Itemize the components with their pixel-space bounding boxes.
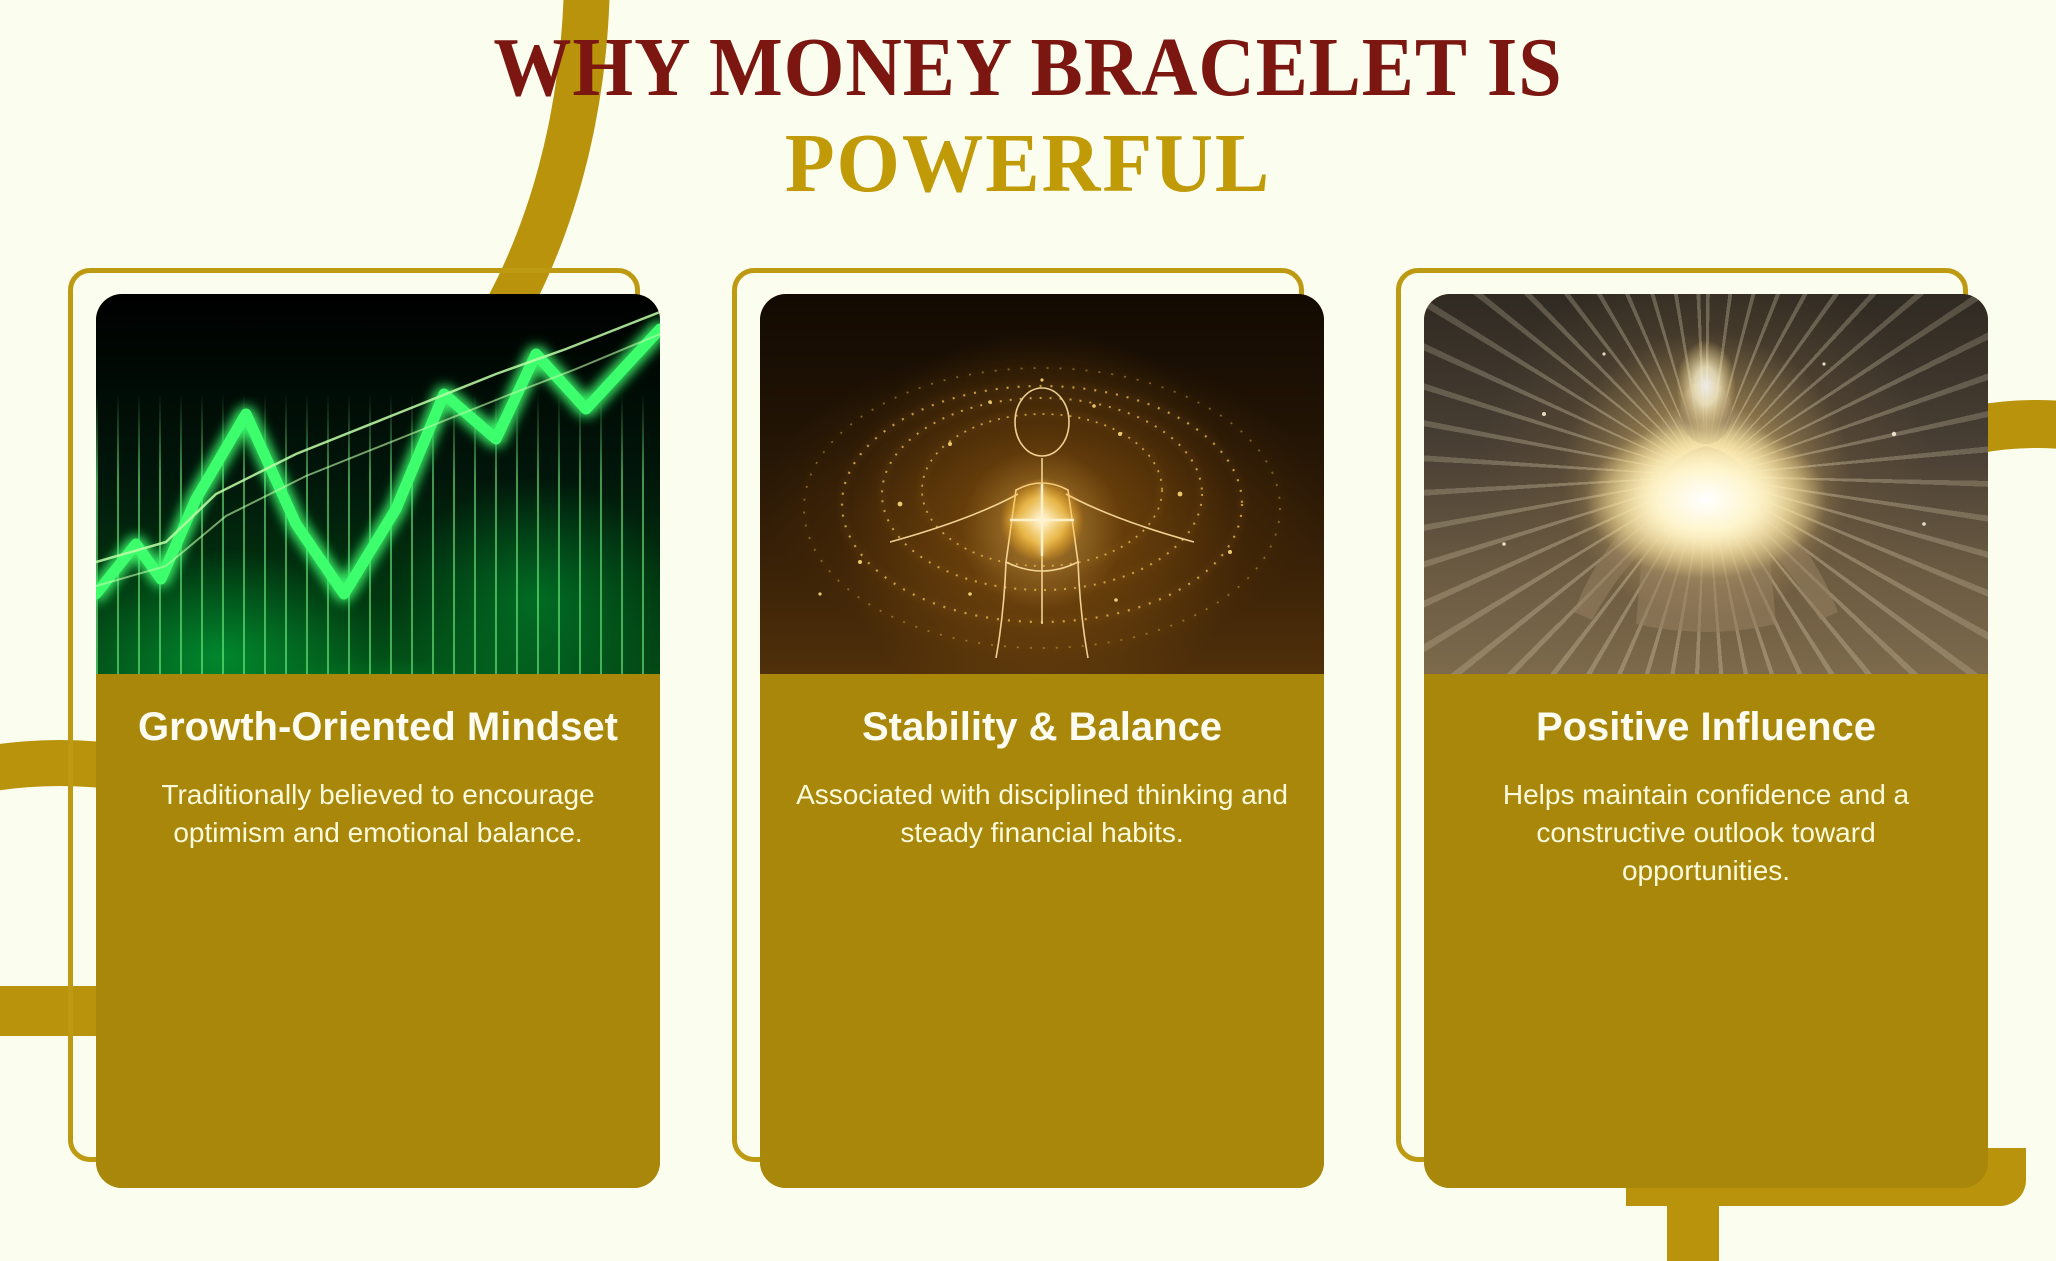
page-title-line-2: POWERFUL [31,116,2025,212]
card-image-growth-chart [96,294,660,674]
golden-particle-figure-icon [760,294,1324,674]
card-text-block: Positive Influence Helps maintain confid… [1424,674,1988,1188]
card-text-block: Stability & Balance Associated with disc… [760,674,1324,1188]
benefit-card-stability-and-balance[interactable]: Stability & Balance Associated with disc… [732,268,1324,1188]
card-title: Growth-Oriented Mindset [130,704,626,750]
benefit-card-positive-influence[interactable]: Positive Influence Helps maintain confid… [1396,268,1988,1188]
card-description: Traditionally believed to encourage opti… [130,776,626,852]
card-image-positive-influence [1424,294,1988,674]
benefit-card-growth-oriented-mindset[interactable]: Growth-Oriented Mindset Traditionally be… [68,268,660,1188]
card-title: Positive Influence [1458,704,1954,750]
benefit-card-row: Growth-Oriented Mindset Traditionally be… [0,268,2056,1198]
card-title: Stability & Balance [794,704,1290,750]
page-header: WHY MONEY BRACELET IS POWERFUL [0,20,2056,212]
card-surface: Growth-Oriented Mindset Traditionally be… [96,294,660,1188]
card-description: Associated with disciplined thinking and… [794,776,1290,852]
particle-figure-lines-icon [760,294,1324,674]
card-description: Helps maintain confidence and a construc… [1458,776,1954,890]
radiant-light-figure-icon [1424,294,1988,674]
silhouette-figure-icon [1424,294,1988,674]
chart-lines-icon [96,294,660,674]
card-text-block: Growth-Oriented Mindset Traditionally be… [96,674,660,1188]
card-image-stability-figure [760,294,1324,674]
page-title-line-1: WHY MONEY BRACELET IS [72,20,1984,116]
green-neon-chart-icon [96,294,660,674]
card-surface: Stability & Balance Associated with disc… [760,294,1324,1188]
card-surface: Positive Influence Helps maintain confid… [1424,294,1988,1188]
